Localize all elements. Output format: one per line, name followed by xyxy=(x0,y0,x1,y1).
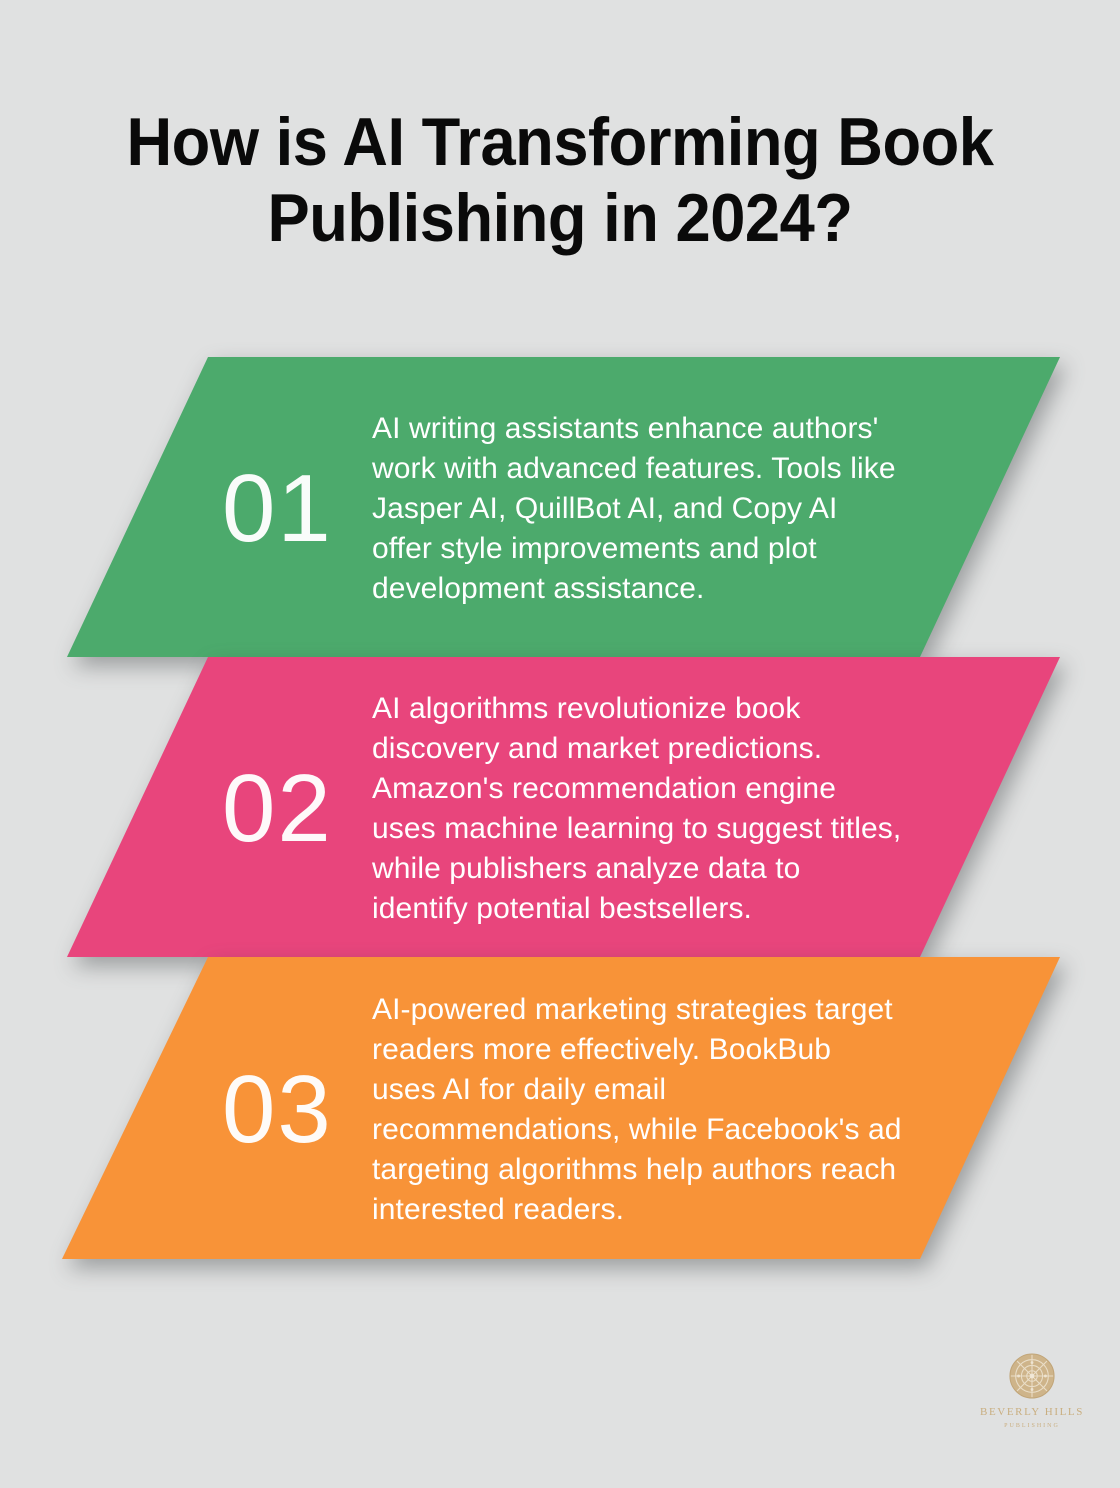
panel-list: 01 AI writing assistants enhance authors… xyxy=(0,357,1120,1262)
panel-number-01: 01 xyxy=(222,461,372,557)
page-title-line-2: Publishing in 2024? xyxy=(95,180,1025,256)
panel-text-01: AI writing assistants enhance authors' w… xyxy=(372,409,902,609)
panel-number-02: 02 xyxy=(222,761,372,857)
panel-content-02: 02 AI algorithms revolutionize book disc… xyxy=(0,657,1120,957)
panel-number-03: 03 xyxy=(222,1062,372,1158)
brand-logo-subtitle: PUBLISHING xyxy=(972,1422,1092,1430)
brand-logo: BEVERLY HILLS PUBLISHING xyxy=(972,1352,1092,1430)
panel-content-01: 01 AI writing assistants enhance authors… xyxy=(0,357,1120,657)
panel-item-03: 03 AI-powered marketing strategies targe… xyxy=(0,957,1120,1259)
page-title-line-1: How is AI Transforming Book xyxy=(95,104,1025,180)
ornate-medallion-icon xyxy=(1008,1352,1056,1400)
panel-item-01: 01 AI writing assistants enhance authors… xyxy=(0,357,1120,657)
panel-content-03: 03 AI-powered marketing strategies targe… xyxy=(0,957,1120,1259)
panel-item-02: 02 AI algorithms revolutionize book disc… xyxy=(0,657,1120,957)
panel-text-02: AI algorithms revolutionize book discove… xyxy=(372,689,902,929)
infographic-page: How is AI Transforming Book Publishing i… xyxy=(0,0,1120,1488)
page-title: How is AI Transforming Book Publishing i… xyxy=(0,104,1120,256)
panel-text-03: AI-powered marketing strategies target r… xyxy=(372,990,902,1230)
brand-logo-name: BEVERLY HILLS xyxy=(972,1406,1092,1419)
